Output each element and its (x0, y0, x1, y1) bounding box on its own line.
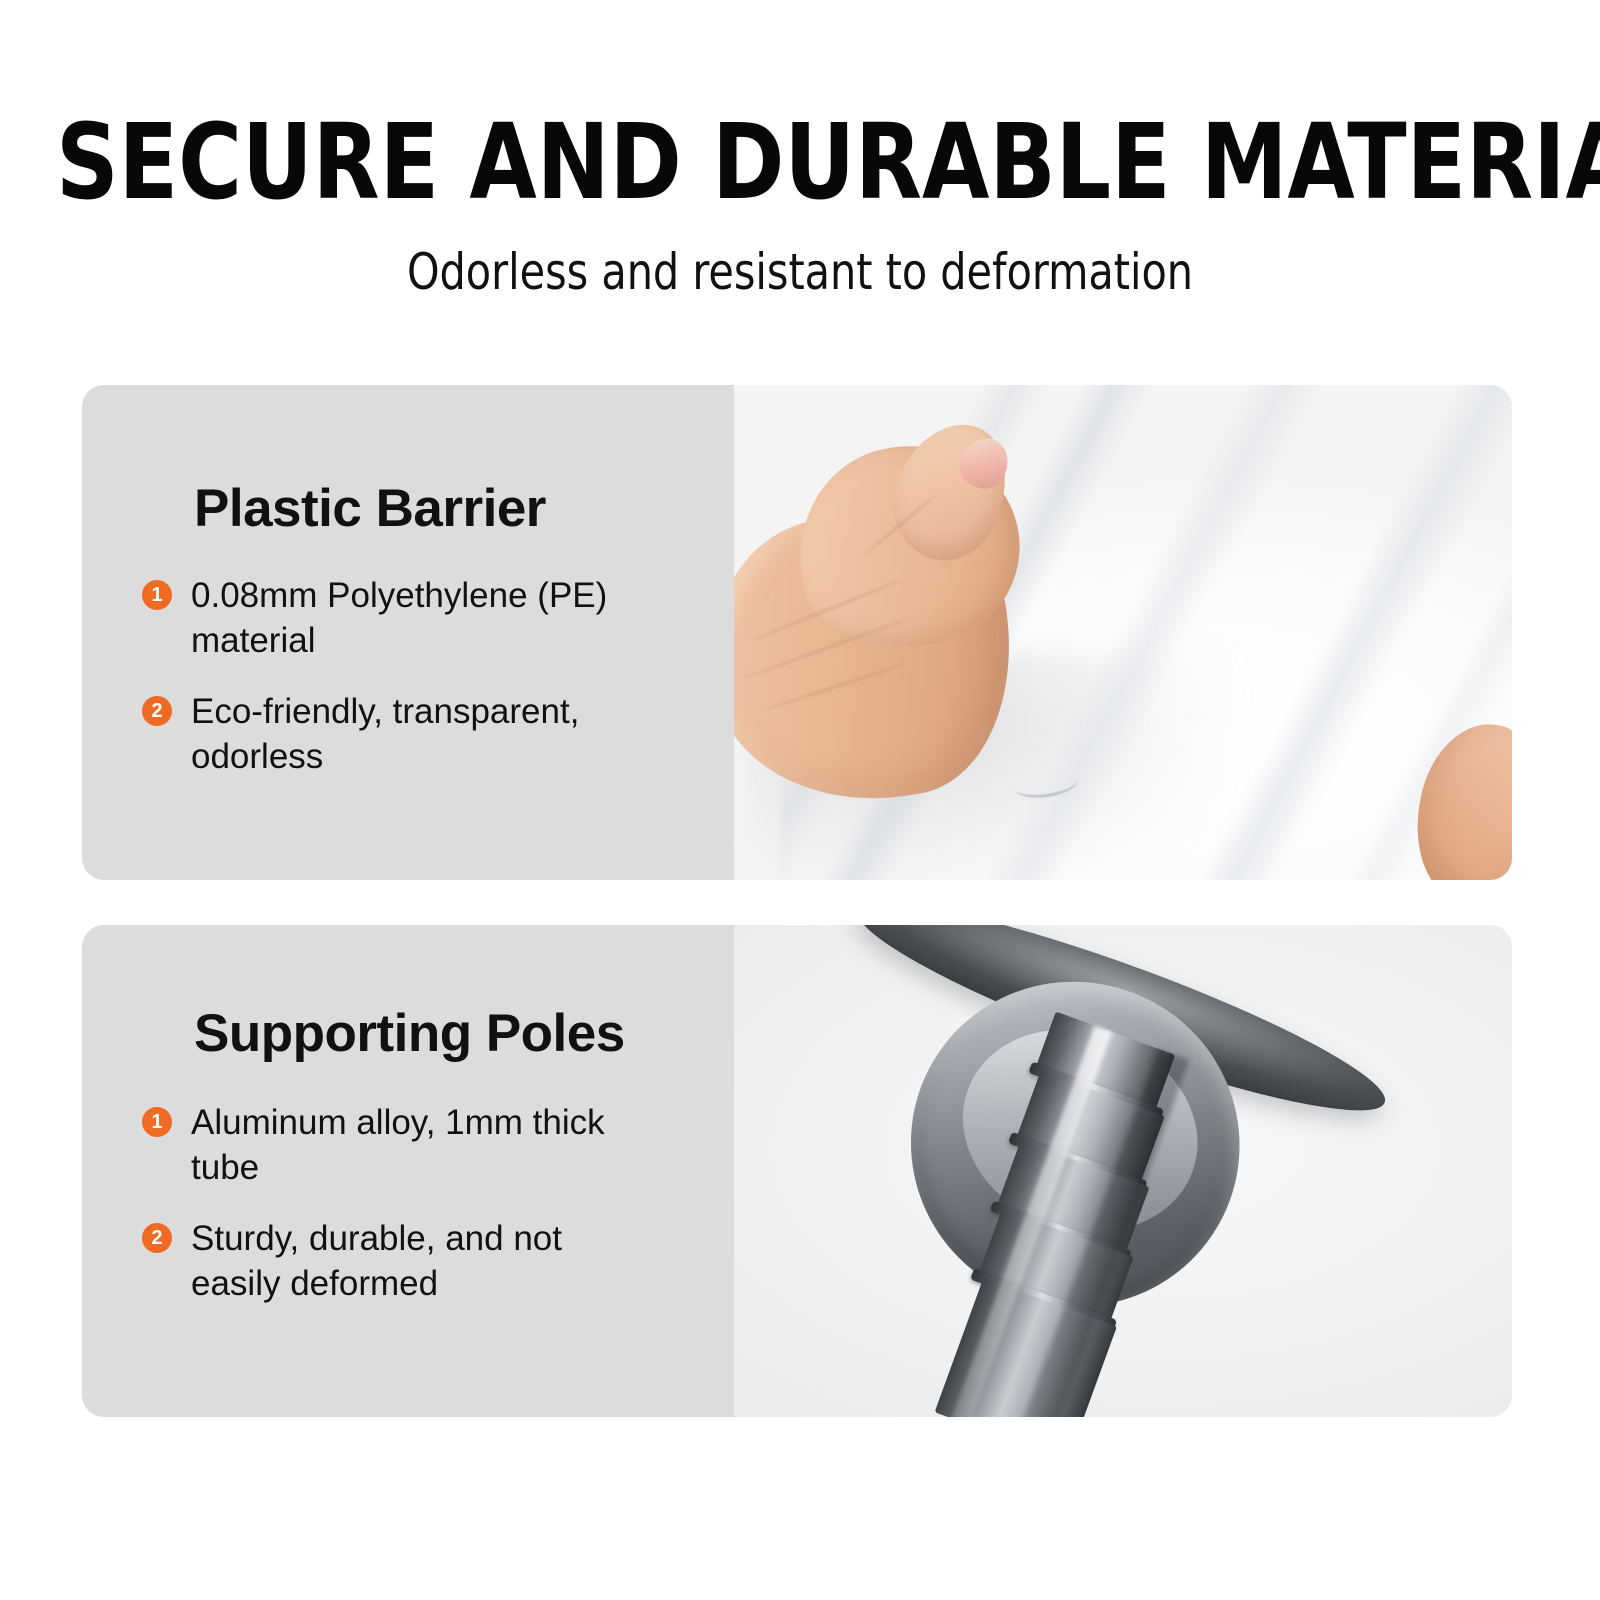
bullet-text: Aluminum alloy, 1mm thick tube (191, 1100, 661, 1190)
bullet-list: 1 0.08mm Polyethylene (PE) material 2 Ec… (142, 573, 712, 779)
bullet-text: Sturdy, durable, and not easily deformed (191, 1216, 661, 1306)
feature-card-supporting-poles: Supporting Poles 1 Aluminum alloy, 1mm t… (82, 925, 1512, 1417)
card-heading: Supporting Poles (194, 1005, 625, 1063)
infographic-page: SECURE AND DURABLE MATERIAL Odorless and… (0, 0, 1600, 1600)
list-item: 2 Eco-friendly, transparent, odorless (142, 689, 712, 779)
card-heading: Plastic Barrier (194, 480, 546, 538)
list-item: 1 0.08mm Polyethylene (PE) material (142, 573, 712, 663)
hand-graphic (734, 415, 1069, 801)
bullet-number-badge: 2 (142, 696, 172, 726)
card-text-panel: Plastic Barrier 1 0.08mm Polyethylene (P… (82, 385, 734, 880)
page-title: SECURE AND DURABLE MATERIAL (56, 110, 1544, 214)
card-image-panel (734, 925, 1512, 1417)
bullet-text: 0.08mm Polyethylene (PE) material (191, 573, 661, 663)
list-item: 1 Aluminum alloy, 1mm thick tube (142, 1100, 712, 1190)
bullet-number-badge: 2 (142, 1223, 172, 1253)
bullet-number-badge: 1 (142, 580, 172, 610)
list-item: 2 Sturdy, durable, and not easily deform… (142, 1216, 712, 1306)
feature-card-plastic-barrier: Plastic Barrier 1 0.08mm Polyethylene (P… (82, 385, 1512, 880)
bullet-number-badge: 1 (142, 1107, 172, 1137)
card-image-panel (734, 385, 1512, 880)
hand-pulling-transparent-plastic-film-image (734, 385, 1512, 880)
bullet-text: Eco-friendly, transparent, odorless (191, 689, 661, 779)
bullet-list: 1 Aluminum alloy, 1mm thick tube 2 Sturd… (142, 1100, 712, 1306)
telescoping-aluminum-support-pole-image (734, 925, 1512, 1417)
page-subtitle: Odorless and resistant to deformation (64, 243, 1536, 301)
card-text-panel: Supporting Poles 1 Aluminum alloy, 1mm t… (82, 925, 734, 1417)
